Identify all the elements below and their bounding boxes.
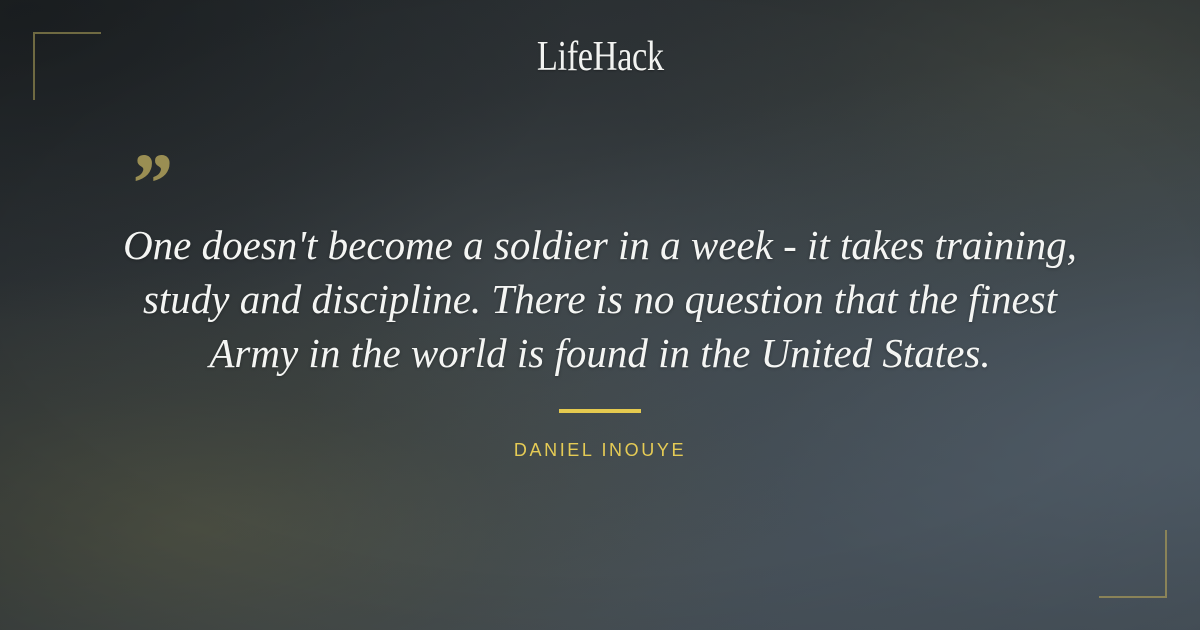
quote-author: DANIEL INOUYE <box>0 440 1200 461</box>
quotation-mark-icon: ” <box>128 140 171 226</box>
quote-card: LifeHack ” One doesn't become a soldier … <box>0 0 1200 630</box>
quote-line: One doesn't become a soldier in a week -… <box>110 218 1090 272</box>
quote-line: study and discipline. There is no questi… <box>110 272 1090 326</box>
brand-name: LifeHack <box>537 36 664 78</box>
brand-logo: LifeHack <box>0 36 1200 78</box>
gold-divider <box>559 409 641 413</box>
quote-text: One doesn't become a soldier in a week -… <box>110 218 1090 380</box>
corner-bracket-bottom-right-icon <box>1099 530 1167 598</box>
quote-line: Army in the world is found in the United… <box>110 326 1090 380</box>
